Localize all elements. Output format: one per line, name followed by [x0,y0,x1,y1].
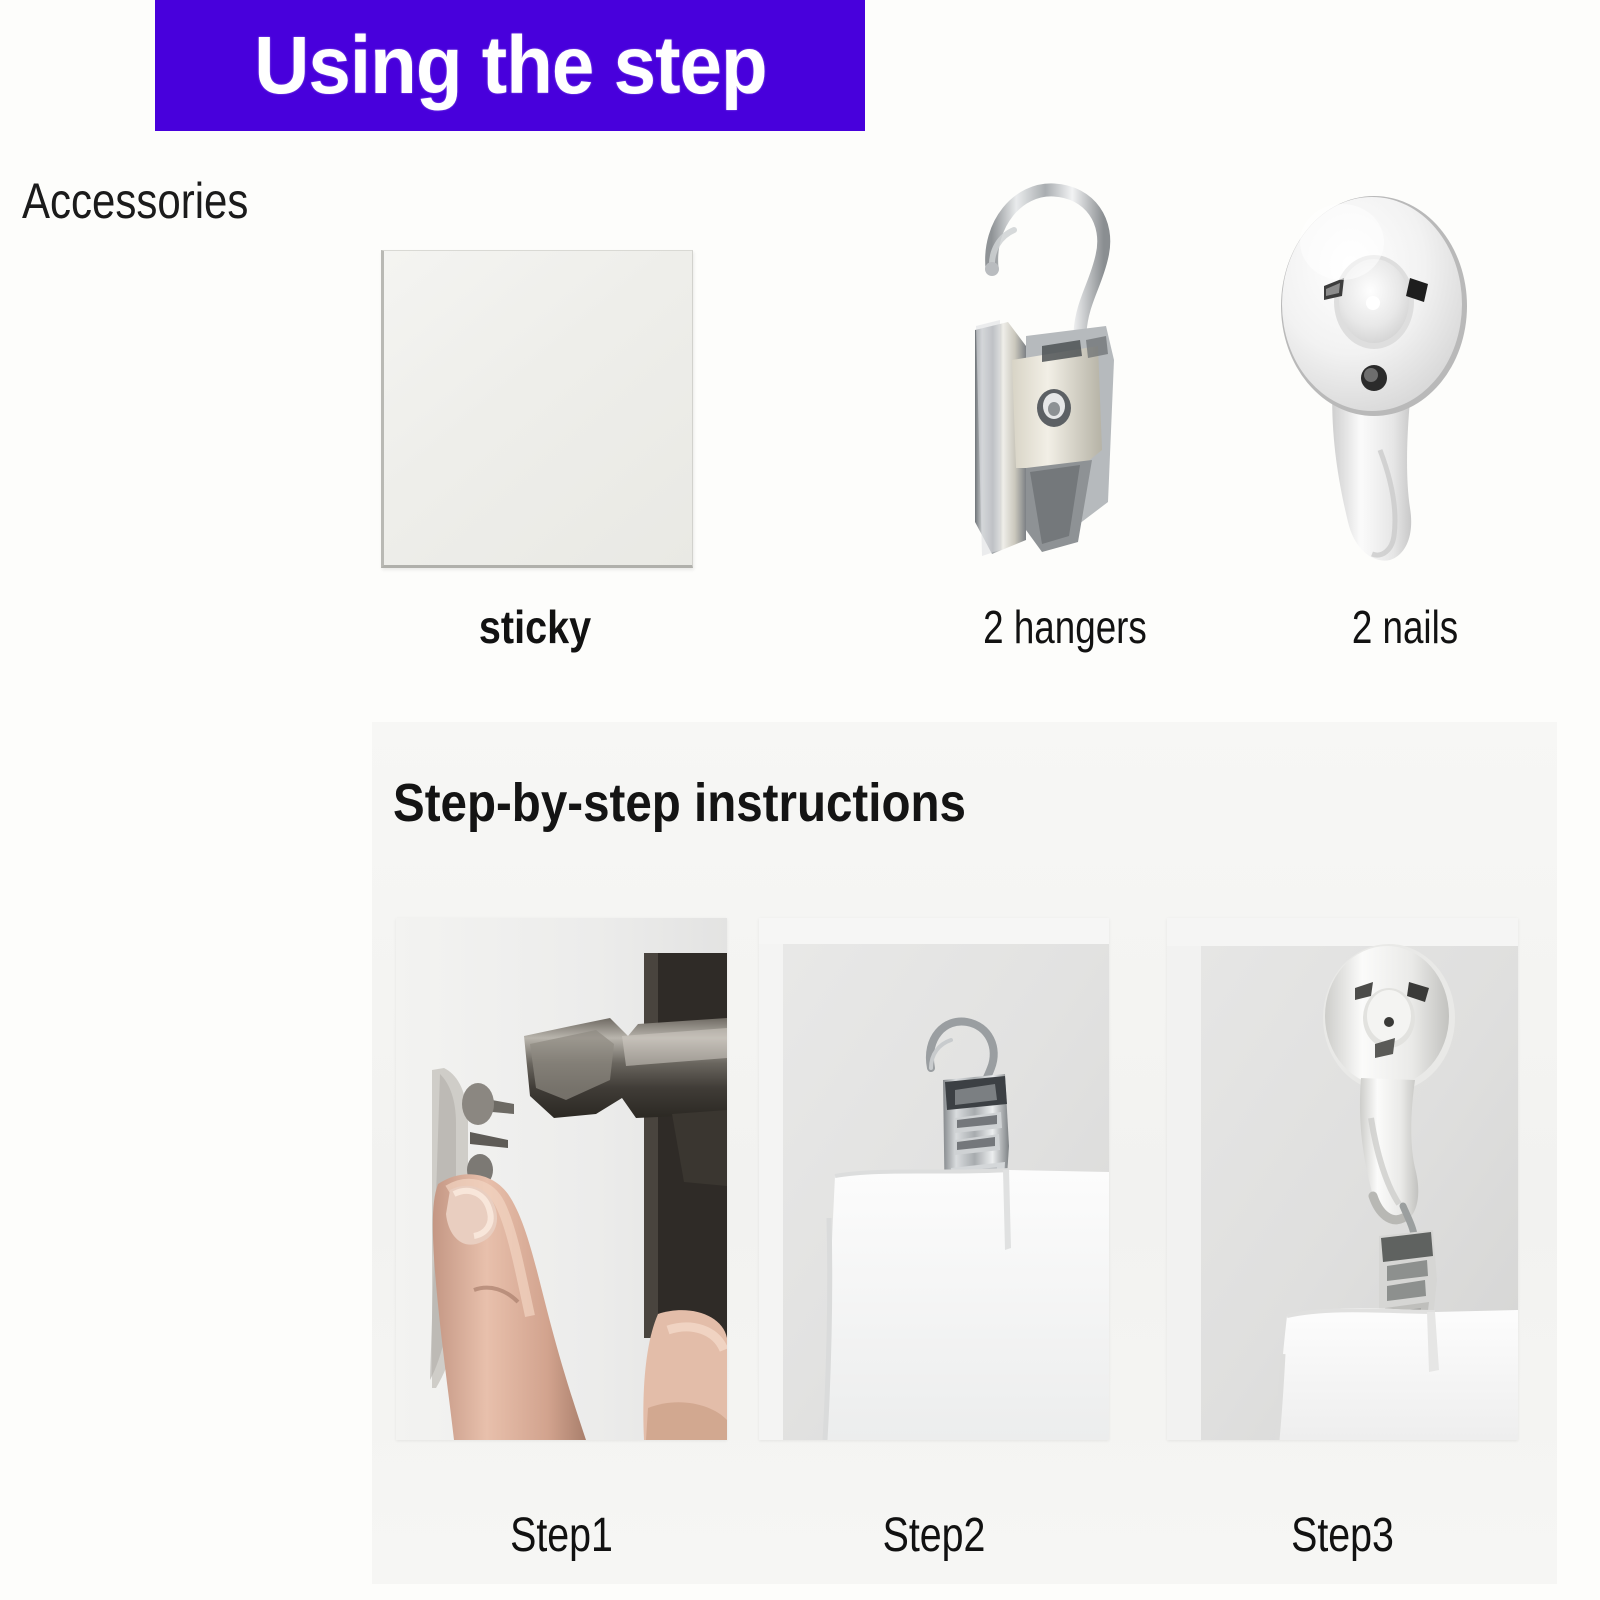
title-banner: Using the step [155,0,865,131]
clip-gripping-fabric-photo [759,918,1109,1440]
accessory-caption-hangers: 2 hangers [945,600,1185,654]
adhesive-pad-icon [381,250,693,568]
accessories-section-label: Accessories [22,172,248,230]
product-instruction-infographic: Using the step Accessories [0,0,1600,1600]
step-caption-2: Step2 [791,1508,1078,1563]
step-photo-3 [1167,918,1518,1440]
wall-hook-nail-icon [1262,150,1492,580]
step-photo-2 [759,918,1109,1440]
accessory-nails [1262,150,1492,580]
step-caption-1: Step1 [426,1508,697,1563]
accessory-hanger [930,150,1160,580]
hammering-nail-into-wall-photo [396,918,727,1440]
page-title: Using the step [254,19,766,113]
instructions-heading: Step-by-step instructions [393,772,966,834]
step-caption-3: Step3 [1199,1508,1487,1563]
hook-with-clip-holding-cloth-photo [1167,918,1518,1440]
accessory-caption-nails: 2 nails [1285,600,1525,654]
accessories-row: sticky 2 hangers 2 nails [0,230,1600,670]
step-photo-1 [396,918,727,1440]
accessory-caption-sticky: sticky [406,600,664,654]
hanger-clip-icon [930,150,1160,580]
